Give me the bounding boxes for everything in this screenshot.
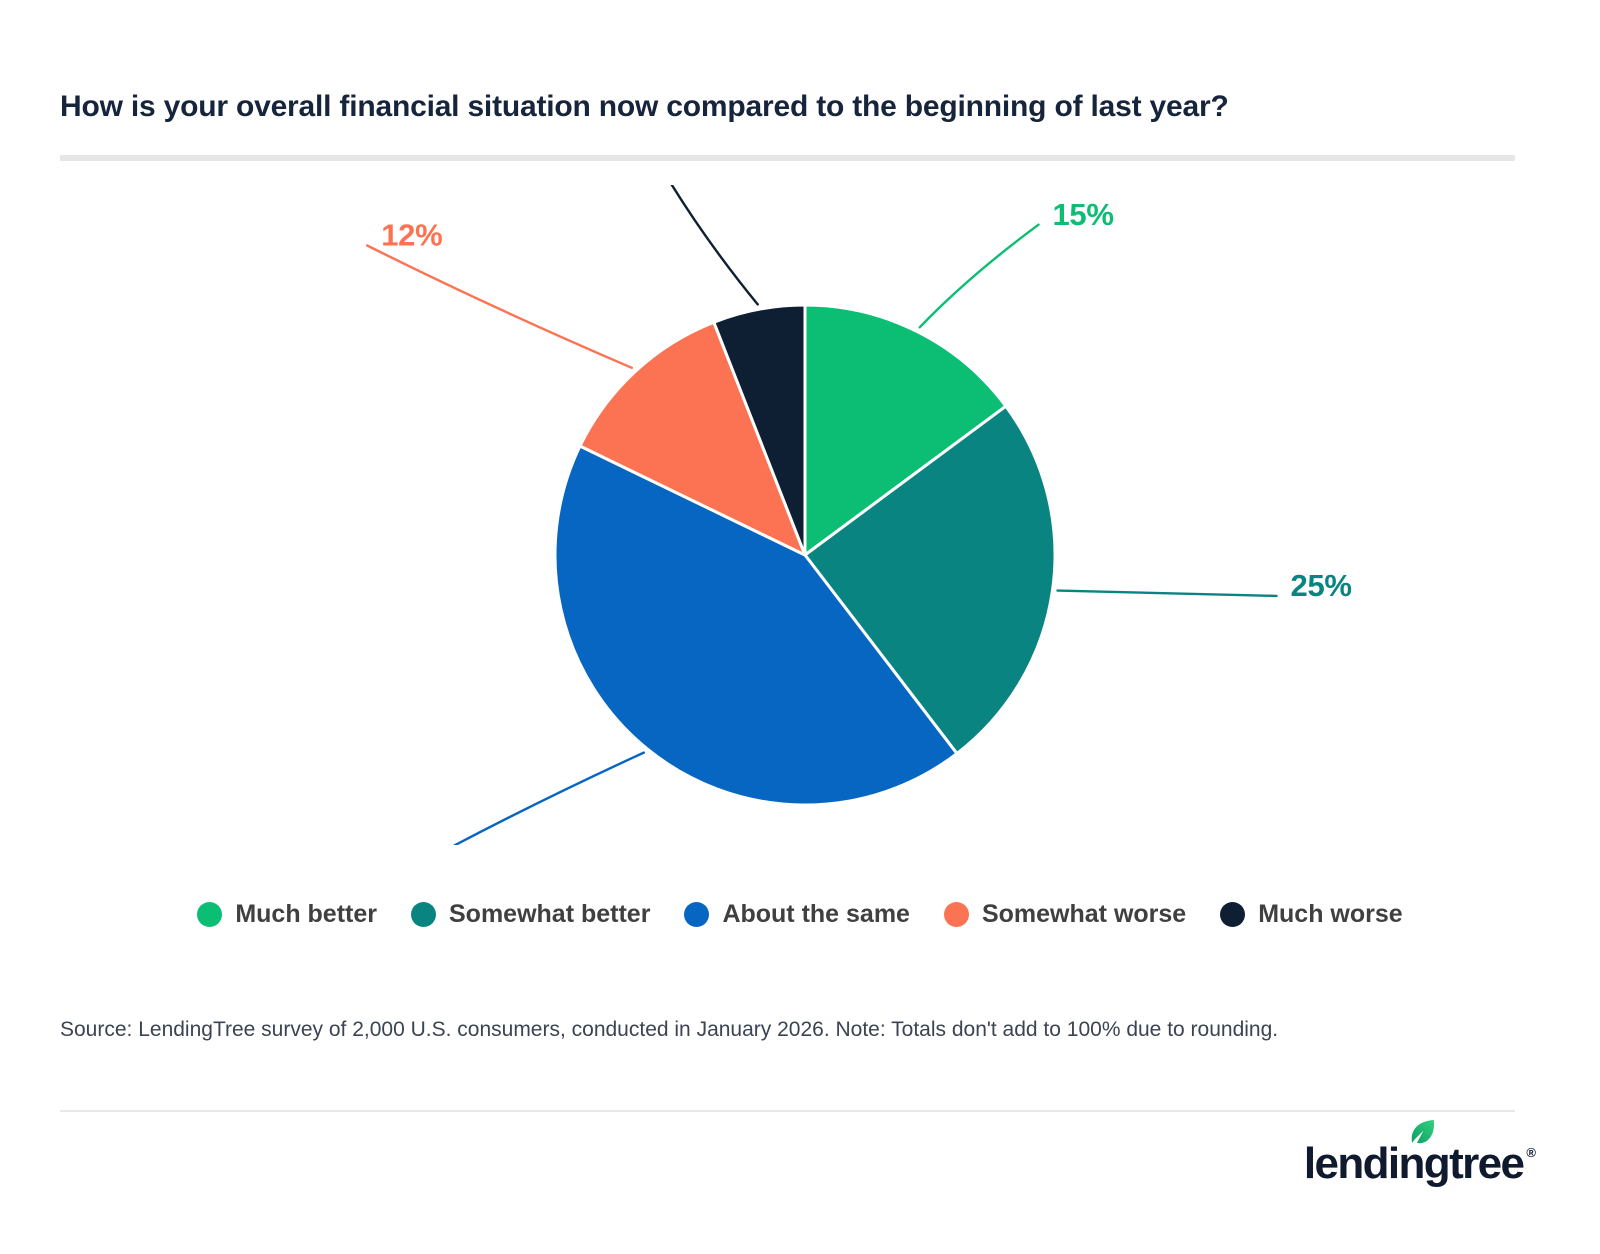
source-note: Source: LendingTree survey of 2,000 U.S.…	[60, 1015, 1520, 1044]
pie-value-label: 25%	[1291, 568, 1352, 603]
legend-item-label: Much better	[235, 900, 377, 929]
legend-item[interactable]: About the same	[684, 900, 910, 929]
legend-item-label: Somewhat better	[449, 900, 650, 929]
legend-color-swatch	[197, 902, 222, 927]
footer-divider	[60, 1110, 1515, 1112]
page-title: How is your overall financial situation …	[60, 88, 1530, 126]
pie-leader-line	[411, 753, 644, 845]
legend-item-label: Somewhat worse	[982, 900, 1186, 929]
legend-item[interactable]: Much better	[197, 900, 377, 929]
legend-color-swatch	[1220, 902, 1245, 927]
pie-value-label: 15%	[1052, 197, 1113, 232]
leaf-icon	[1408, 1117, 1438, 1147]
pie-leader-line	[650, 185, 758, 304]
logo-trademark: ®	[1526, 1145, 1536, 1160]
legend-color-swatch	[411, 902, 436, 927]
pie-leader-line	[367, 246, 632, 368]
legend-item[interactable]: Much worse	[1220, 900, 1402, 929]
legend-item[interactable]: Somewhat worse	[944, 900, 1186, 929]
title-divider	[60, 155, 1515, 161]
legend-color-swatch	[944, 902, 969, 927]
pie-slices-group	[555, 305, 1055, 805]
legend-item-label: About the same	[722, 900, 910, 929]
pie-chart-area: 15%25%43%12%6%	[0, 185, 1600, 845]
chart-legend: Much betterSomewhat betterAbout the same…	[0, 900, 1600, 929]
pie-value-label: 43%	[425, 841, 486, 845]
lendingtree-logo: lendingtree ®	[1304, 1142, 1536, 1186]
legend-item[interactable]: Somewhat better	[411, 900, 650, 929]
pie-chart-svg: 15%25%43%12%6%	[0, 185, 1600, 845]
chart-page: How is your overall financial situation …	[0, 0, 1600, 1254]
legend-color-swatch	[684, 902, 709, 927]
pie-leader-line	[920, 225, 1039, 328]
legend-item-label: Much worse	[1258, 900, 1402, 929]
logo-wordmark: lendingtree	[1304, 1142, 1524, 1186]
pie-value-label: 12%	[381, 218, 442, 253]
pie-leader-line	[1058, 591, 1277, 596]
